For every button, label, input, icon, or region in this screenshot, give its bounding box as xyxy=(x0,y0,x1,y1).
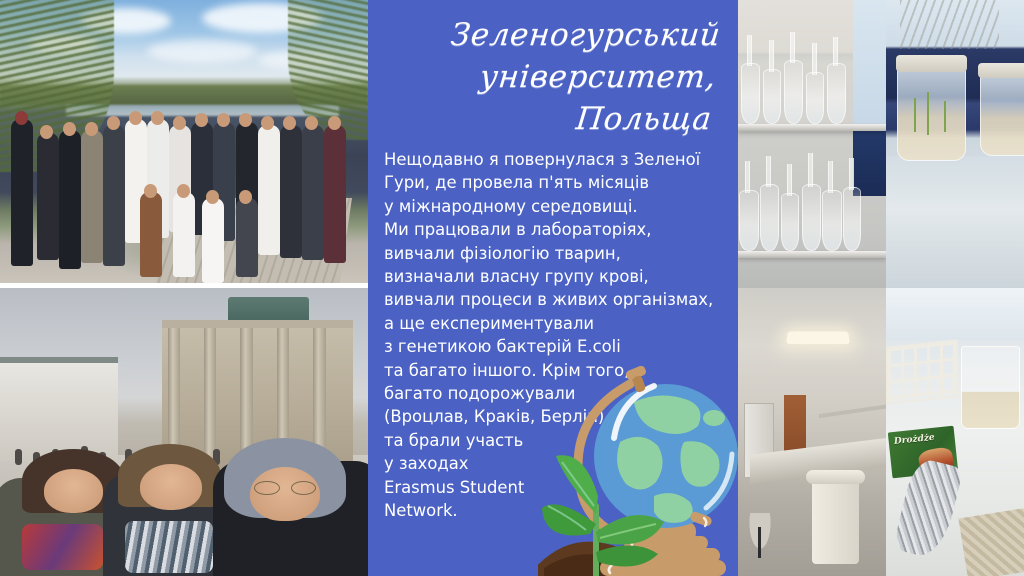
yeast-packet-label: Drożdże xyxy=(894,434,936,447)
left-photo-column xyxy=(0,0,368,576)
laboratory-room-interior xyxy=(738,288,886,576)
text-panel: Зеленогурський університет, Польща Нещод… xyxy=(368,0,738,576)
berlin-brandenburg-gate-selfie xyxy=(0,288,368,576)
laboratory-glassware-shelves xyxy=(738,0,886,288)
page-title: Зеленогурський університет, Польща xyxy=(409,14,722,140)
right-photo-column-outer: Drożdże xyxy=(886,0,1024,576)
plant-tissue-culture-jars xyxy=(886,0,1024,288)
presentation-slide: Зеленогурський університет, Польща Нещод… xyxy=(0,0,1024,576)
globe-with-plant-illustration xyxy=(538,346,738,576)
group-photo-by-lake xyxy=(0,0,368,283)
right-photo-column-inner xyxy=(738,0,886,576)
yeast-experiment-bench: Drożdże xyxy=(886,288,1024,576)
